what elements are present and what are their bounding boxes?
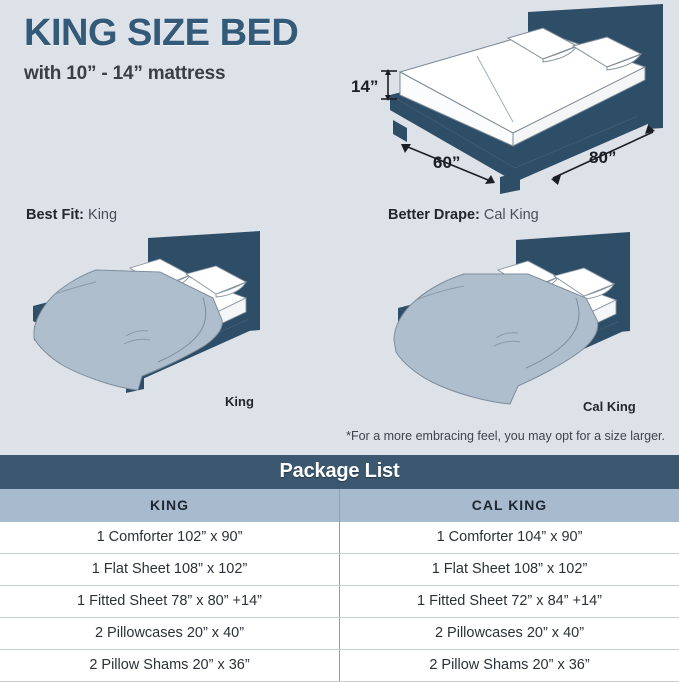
package-list-section: Package List KING CAL KING 1 Comforter 1… xyxy=(0,455,679,682)
package-list-table: KING CAL KING 1 Comforter 102” x 90” 1 C… xyxy=(0,489,679,682)
hero-bed-svg: 14” 60” 80” xyxy=(345,0,679,198)
cell-cal-king: 1 Fitted Sheet 72” x 84” +14” xyxy=(340,586,679,618)
king-bed-illustration xyxy=(8,226,328,406)
best-fit-label: Best Fit: King xyxy=(26,207,117,223)
king-bed-svg xyxy=(8,226,328,406)
package-list-body: 1 Comforter 102” x 90” 1 Comforter 104” … xyxy=(0,522,679,682)
king-bed-dimensions-diagram: 14” 60” 80” xyxy=(345,0,679,198)
table-row: 1 Comforter 102” x 90” 1 Comforter 104” … xyxy=(0,522,679,554)
footnote: *For a more embracing feel, you may opt … xyxy=(346,429,665,443)
table-row: 2 Pillow Shams 20” x 36” 2 Pillow Shams … xyxy=(0,650,679,682)
cell-king: 1 Fitted Sheet 78” x 80” +14” xyxy=(0,586,340,618)
table-row: 1 Flat Sheet 108” x 102” 1 Flat Sheet 10… xyxy=(0,554,679,586)
dimension-length-label: 80” xyxy=(589,148,616,167)
cal-king-bed-illustration xyxy=(368,226,679,411)
package-list-banner: Package List xyxy=(0,455,679,489)
cell-cal-king: 1 Comforter 104” x 90” xyxy=(340,522,679,554)
king-size-bed-infographic: KING SIZE BED with 10” - 14” mattress xyxy=(0,0,679,679)
best-fit-label-bold: Best Fit: xyxy=(26,207,84,223)
column-header-cal-king: CAL KING xyxy=(340,489,679,522)
better-drape-label: Better Drape: Cal King xyxy=(388,207,539,223)
table-row: 2 Pillowcases 20” x 40” 2 Pillowcases 20… xyxy=(0,618,679,650)
page-subtitle: with 10” - 14” mattress xyxy=(24,63,364,85)
page-title: KING SIZE BED xyxy=(24,14,364,54)
dimension-height-label: 14” xyxy=(351,77,378,96)
cell-cal-king: 2 Pillow Shams 20” x 36” xyxy=(340,650,679,682)
column-header-king: KING xyxy=(0,489,340,522)
cell-cal-king: 2 Pillowcases 20” x 40” xyxy=(340,618,679,650)
cell-king: 1 Flat Sheet 108” x 102” xyxy=(0,554,340,586)
table-row: 1 Fitted Sheet 78” x 80” +14” 1 Fitted S… xyxy=(0,586,679,618)
dimension-width-label: 60” xyxy=(433,153,460,172)
cell-king: 2 Pillow Shams 20” x 36” xyxy=(0,650,340,682)
cell-king: 1 Comforter 102” x 90” xyxy=(0,522,340,554)
cell-king: 2 Pillowcases 20” x 40” xyxy=(0,618,340,650)
king-bed-caption: King xyxy=(225,394,254,409)
table-header-row: KING CAL KING xyxy=(0,489,679,522)
best-fit-label-value: King xyxy=(88,207,117,223)
header: KING SIZE BED with 10” - 14” mattress xyxy=(24,14,364,85)
cal-king-bed-caption: Cal King xyxy=(583,399,636,414)
better-drape-label-bold: Better Drape: xyxy=(388,207,480,223)
cal-king-bed-svg xyxy=(368,226,679,411)
cell-cal-king: 1 Flat Sheet 108” x 102” xyxy=(340,554,679,586)
better-drape-label-value: Cal King xyxy=(484,207,539,223)
